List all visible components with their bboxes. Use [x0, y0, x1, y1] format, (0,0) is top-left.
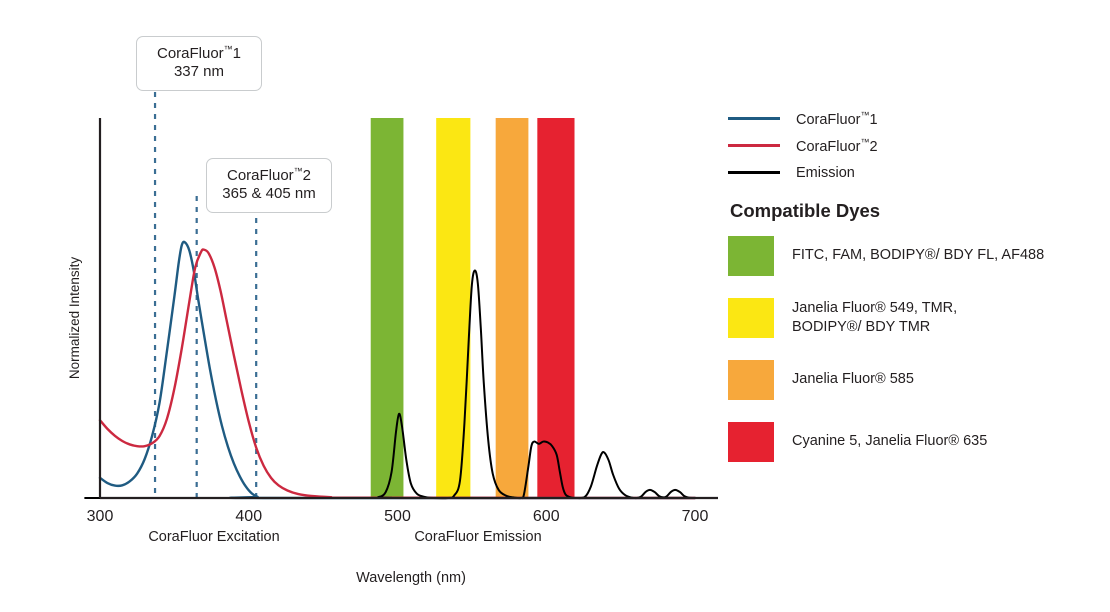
dye-color-swatch [728, 422, 774, 462]
legend-item-label: CoraFluor™1 [796, 110, 878, 128]
legend-item-2[interactable]: Emission [728, 159, 1110, 186]
yellow-band [436, 118, 470, 498]
x-tick-labels: 300400500600700 [87, 508, 709, 525]
y-axis-title: Normalized Intensity [67, 257, 82, 380]
dye-item-2: Janelia Fluor® 585 [728, 360, 1110, 400]
dye-item-3: Cyanine 5, Janelia Fluor® 635 [728, 422, 1110, 462]
orange-band [496, 118, 529, 498]
dye-item-1: Janelia Fluor® 549, TMR,BODIPY®/ BDY TMR [728, 298, 1110, 338]
green-band [371, 118, 404, 498]
compatible-dyes-list: FITC, FAM, BODIPY®/ BDY FL, AF488Janelia… [728, 236, 1110, 484]
chart-plot-area: 300400500600700 CoraFluor Excitation Cor… [0, 0, 740, 612]
callout2-suffix: 2 [303, 167, 311, 184]
dye-color-swatch [728, 360, 774, 400]
legend-item-label: CoraFluor™2 [796, 137, 878, 155]
callout1-suffix: 1 [233, 45, 241, 62]
callout1-sup: ™ [224, 44, 233, 54]
excitation-marker-lines [155, 92, 256, 498]
x-tick-600: 600 [533, 508, 560, 525]
legend-item-0[interactable]: CoraFluor™1 [728, 105, 1110, 132]
x-tick-700: 700 [682, 508, 709, 525]
dye-label: Janelia Fluor® 549, TMR,BODIPY®/ BDY TMR [792, 299, 957, 337]
compatible-dyes-title: Compatible Dyes [730, 200, 880, 222]
legend-item-1[interactable]: CoraFluor™2 [728, 132, 1110, 159]
region-label-emission: CoraFluor Emission [414, 529, 541, 545]
callout-corafluor1: CoraFluor™1 337 nm [136, 36, 262, 91]
callout-corafluor2: CoraFluor™2 365 & 405 nm [206, 158, 332, 213]
series-legend: CoraFluor™1CoraFluor™2Emission [728, 105, 1110, 186]
callout2-value: 365 & 405 nm [219, 185, 319, 203]
dye-color-swatch [728, 298, 774, 338]
callout1-value: 337 nm [149, 63, 249, 81]
legend-line-icon [728, 171, 780, 174]
legend-line-icon [728, 144, 780, 147]
dye-label: FITC, FAM, BODIPY®/ BDY FL, AF488 [792, 246, 1044, 265]
x-tick-500: 500 [384, 508, 411, 525]
legend-item-label: Emission [796, 165, 855, 181]
x-tick-300: 300 [87, 508, 114, 525]
dye-label: Cyanine 5, Janelia Fluor® 635 [792, 432, 987, 451]
dye-color-swatch [728, 236, 774, 276]
callout1-name: CoraFluor [157, 45, 224, 62]
dye-item-0: FITC, FAM, BODIPY®/ BDY FL, AF488 [728, 236, 1110, 276]
callout2-sup: ™ [294, 166, 303, 176]
x-axis-title: Wavelength (nm) [356, 570, 466, 586]
dye-label: Janelia Fluor® 585 [792, 370, 914, 389]
spectra-chart: 300400500600700 CoraFluor Excitation Cor… [0, 0, 740, 612]
region-label-excitation: CoraFluor Excitation [148, 529, 279, 545]
callout2-name: CoraFluor [227, 167, 294, 184]
x-tick-400: 400 [235, 508, 262, 525]
legend-line-icon [728, 117, 780, 120]
